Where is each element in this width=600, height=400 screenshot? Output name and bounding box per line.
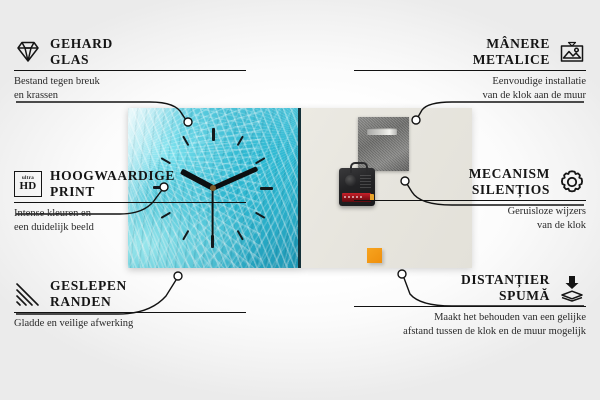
- foam-spacer: [367, 248, 382, 263]
- feature-subtitle: Gladde en veilige afwerking: [14, 317, 246, 331]
- feature-divider: [14, 312, 246, 313]
- hanger-slot: [367, 128, 397, 135]
- gear-icon: [558, 168, 586, 196]
- feature-divider: [354, 70, 586, 71]
- feature-subtitle: Bestand tegen breuk en krassen: [14, 75, 246, 103]
- feature-hoogwaardige-print[interactable]: ultra HD HOOGWAARDIGEPRINT Intense kleur…: [14, 168, 246, 235]
- feature-divider: [354, 200, 586, 201]
- feature-subtitle: Eenvoudige installatie van de klok aan d…: [354, 75, 586, 103]
- spacer-layers-icon: [558, 274, 586, 302]
- feature-title: DISTANȚIERSPUMĂ: [461, 272, 550, 304]
- feature-heading: ultra HD HOOGWAARDIGEPRINT: [14, 168, 246, 200]
- product-infographic: GEHARDGLAS Bestand tegen breuk en krasse…: [0, 0, 600, 400]
- feature-title: MECANISMSILENȚIOS: [469, 166, 550, 198]
- ultra-hd-icon-main-text: HD: [20, 181, 37, 192]
- feature-distantier-spuma[interactable]: DISTANȚIERSPUMĂ Maakt het behouden van e…: [354, 272, 586, 339]
- feature-divider: [354, 306, 586, 307]
- ultra-hd-icon: ultra HD: [14, 170, 42, 198]
- feature-mecanism-silentios[interactable]: MECANISMSILENȚIOS Geruisloze wijzers van…: [354, 166, 586, 233]
- feature-geslepen-randen[interactable]: GESLEPENRANDEN Gladde en veilige afwerki…: [14, 278, 246, 331]
- feature-title: HOOGWAARDIGEPRINT: [50, 168, 175, 200]
- feature-title: GEHARDGLAS: [50, 36, 113, 68]
- feature-heading: GESLEPENRANDEN: [14, 278, 246, 310]
- feature-heading: GEHARDGLAS: [14, 36, 246, 68]
- feature-heading: MÂNEREMETALICE: [354, 36, 586, 68]
- feature-title: MÂNEREMETALICE: [473, 36, 550, 68]
- feature-heading: MECANISMSILENȚIOS: [354, 166, 586, 198]
- diamond-icon: [14, 38, 42, 66]
- feature-subtitle: Intense kleuren en een duidelijk beeld: [14, 207, 246, 235]
- feature-subtitle: Geruisloze wijzers van de klok: [354, 205, 586, 233]
- feature-heading: DISTANȚIERSPUMĂ: [354, 272, 586, 304]
- feature-divider: [14, 70, 246, 71]
- feature-gehard-glas[interactable]: GEHARDGLAS Bestand tegen breuk en krasse…: [14, 36, 246, 103]
- beveled-edge-icon: [14, 280, 42, 308]
- feature-subtitle: Maakt het behouden van een gelijke afsta…: [354, 311, 586, 339]
- picture-hanger-icon: [558, 38, 586, 66]
- feature-manere-metalice[interactable]: MÂNEREMETALICE Eenvoudige installatie va…: [354, 36, 586, 103]
- feature-title: GESLEPENRANDEN: [50, 278, 127, 310]
- feature-divider: [14, 202, 246, 203]
